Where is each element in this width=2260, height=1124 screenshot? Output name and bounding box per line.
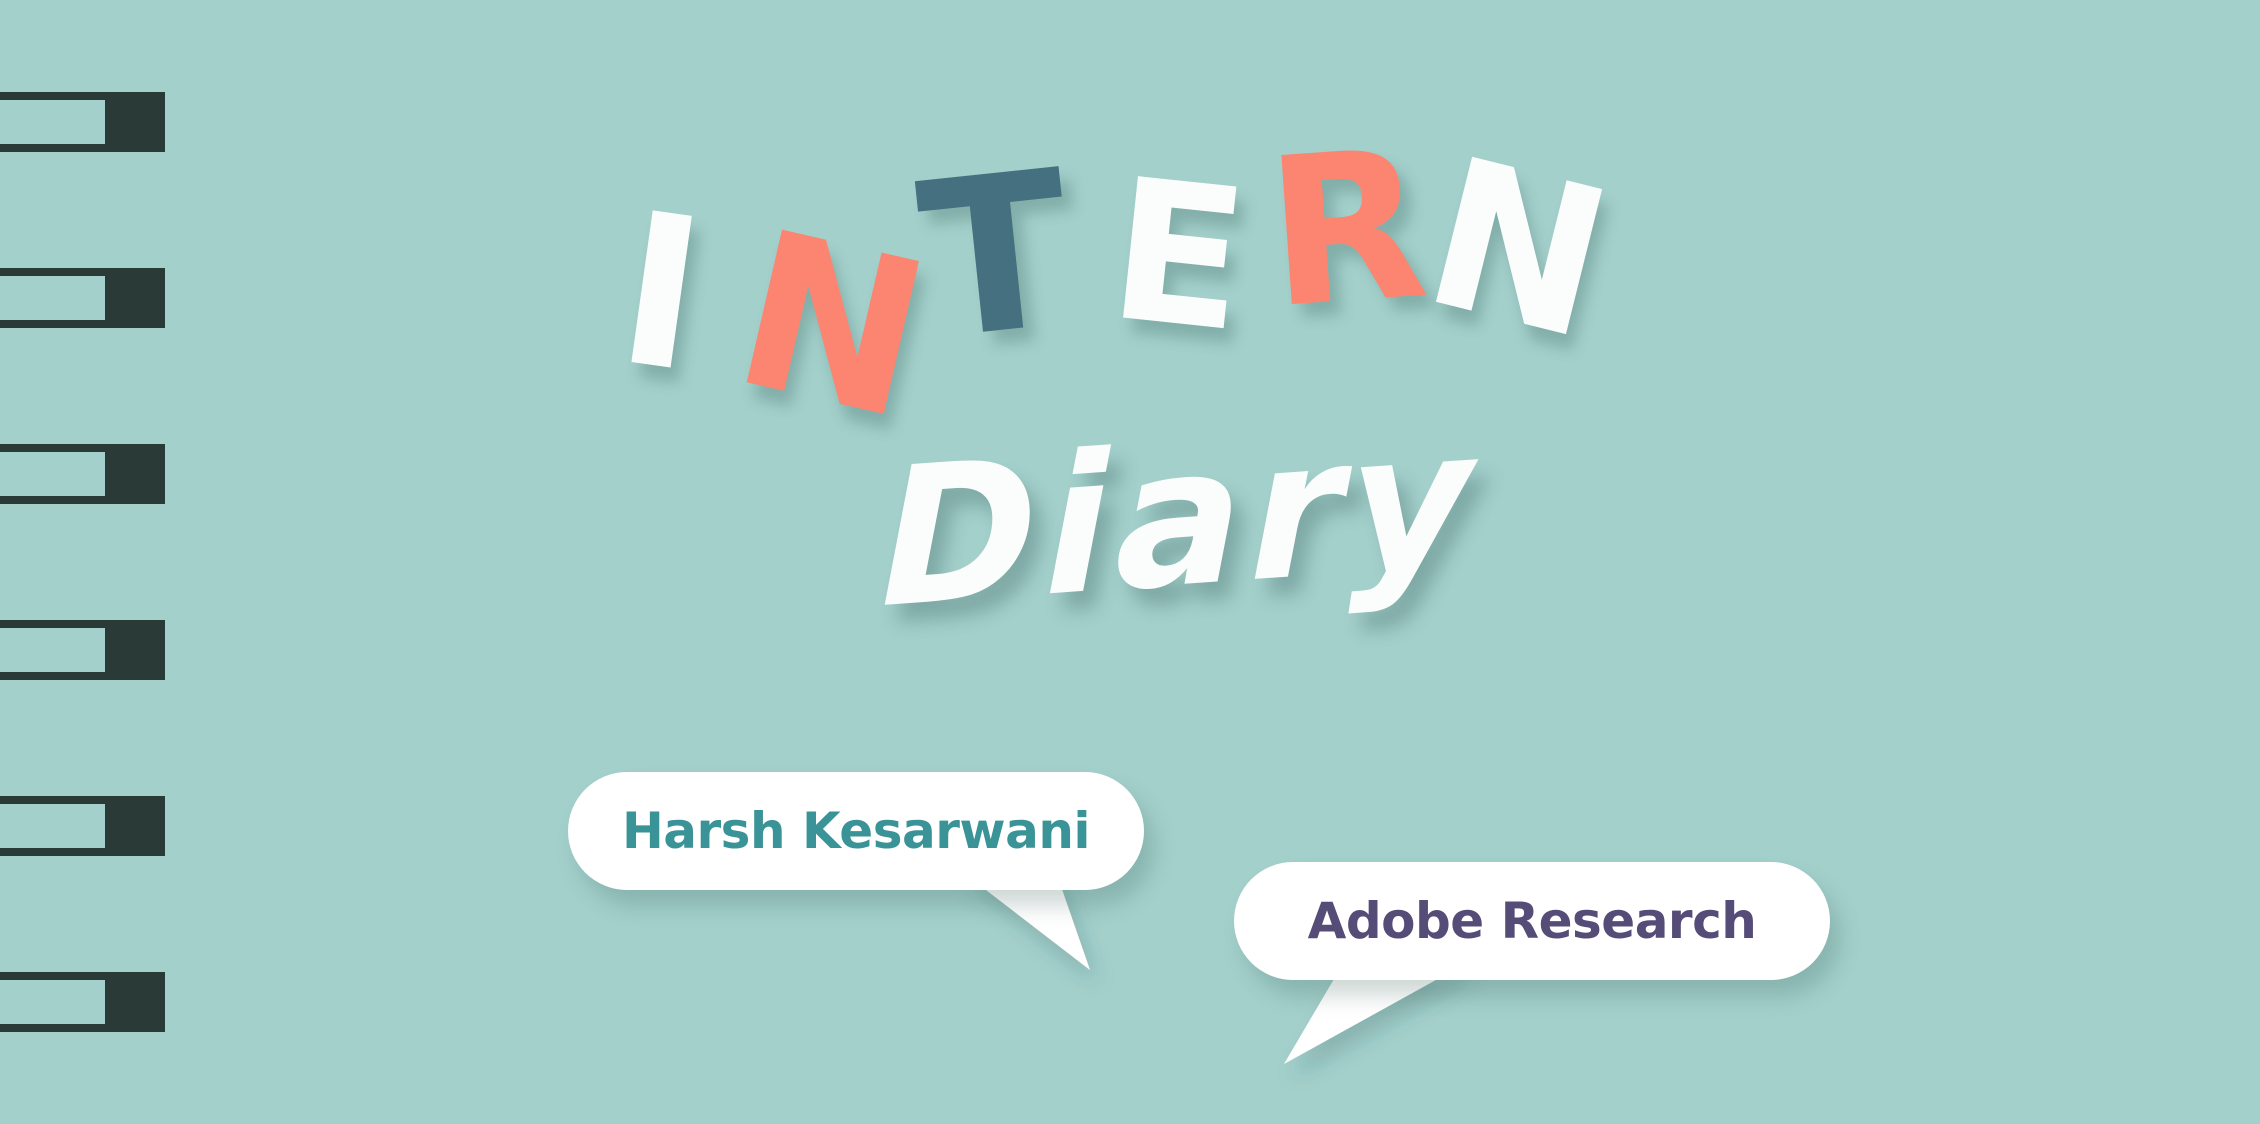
speech-bubble-presenter-name[interactable]: Harsh Kesarwani (568, 772, 1144, 890)
title-letter-r: R (1261, 123, 1433, 339)
title-letter-t: T (911, 141, 1079, 370)
binding-ring (0, 620, 165, 680)
title-letter-n2: N (1410, 130, 1626, 370)
binding-ring-hole (0, 628, 105, 672)
binding-ring (0, 796, 165, 856)
presenter-name-label: Harsh Kesarwani (622, 802, 1090, 860)
title-letter-e: E (1102, 152, 1255, 360)
slide-canvas: I N T E R N Diary Harsh Kesarwani Adobe … (0, 0, 2260, 1124)
title-letter-i: I (608, 184, 709, 402)
organization-label: Adobe Research (1308, 892, 1757, 950)
binding-ring (0, 972, 165, 1032)
title-diary-script: Diary (881, 387, 1478, 650)
speech-bubble-organization[interactable]: Adobe Research (1234, 862, 1830, 980)
title-letter-n1: N (720, 201, 944, 451)
binding-ring-hole (0, 804, 105, 848)
binding-ring-hole (0, 980, 105, 1024)
